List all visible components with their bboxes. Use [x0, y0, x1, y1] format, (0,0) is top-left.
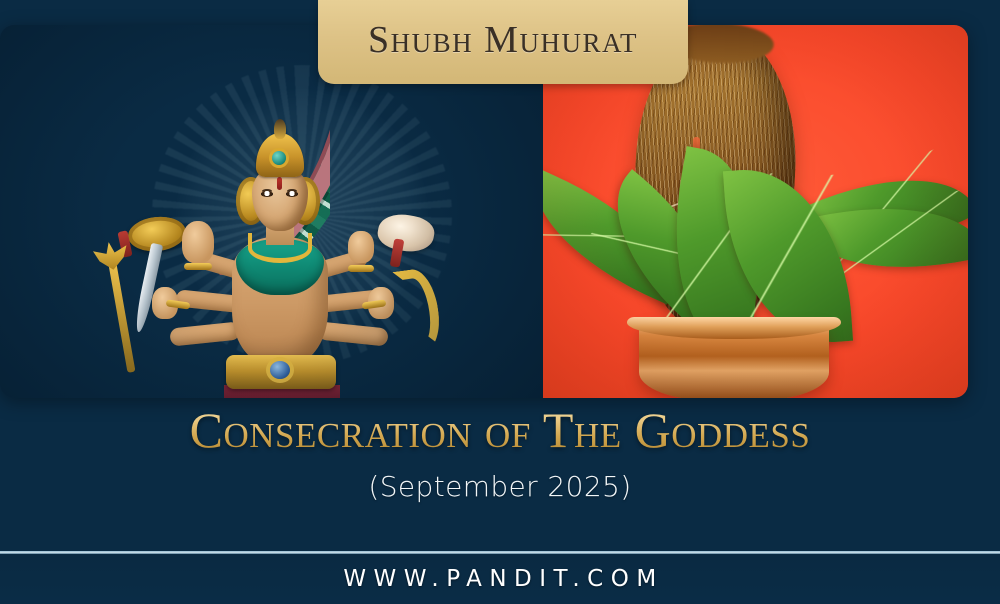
coconut-kumkum-mark	[693, 137, 700, 167]
deity-bangle	[348, 265, 374, 272]
deity-waist-belt	[226, 355, 336, 389]
deity-right-hand	[368, 287, 394, 319]
deity-blouse	[236, 239, 324, 295]
deity-lower-left-arm	[169, 321, 240, 346]
headline-block: Consecration of The Goddess (September 2…	[0, 404, 1000, 503]
deity-upper-left-arm	[189, 249, 253, 282]
conch-tassel-icon	[390, 238, 405, 267]
mango-leaf-icon	[543, 170, 696, 305]
deity-left-earring	[236, 177, 266, 225]
banner-label: Shubh Muhurat	[368, 18, 638, 66]
deity-upper-right-arm	[305, 249, 369, 282]
copper-kalash-rim	[627, 317, 841, 339]
footer-bar: WWW.PANDIT.COM	[0, 554, 1000, 604]
deity-neck	[266, 223, 294, 245]
deity-crown-finial	[274, 119, 286, 139]
deity-middle-right-arm	[309, 289, 382, 313]
deity-right-eye	[286, 191, 298, 197]
deity-skirt	[224, 385, 340, 398]
coconut-sacred-thread	[648, 215, 784, 281]
shubh-muhurat-banner: Shubh Muhurat	[318, 0, 688, 84]
mango-leaf-icon	[723, 163, 853, 349]
sword-icon	[133, 243, 163, 334]
deity-bangle	[184, 263, 212, 270]
arch-rose-band	[0, 25, 330, 275]
deity-belt-gem	[270, 361, 290, 379]
deity-crown	[256, 133, 304, 177]
deity-middle-left-arm	[175, 289, 248, 313]
trident-icon	[109, 263, 136, 373]
deity-tilak-mark	[277, 177, 282, 190]
deity-raised-hand	[348, 231, 374, 263]
page-title: Consecration of The Goddess	[0, 404, 1000, 456]
deity-crown-gem	[272, 151, 286, 165]
deity-lower-right-arm	[317, 321, 388, 346]
conch-icon	[375, 210, 436, 255]
deity-right-earring	[290, 177, 320, 225]
arch-green-motif-band	[0, 25, 330, 275]
halo-glow-icon	[176, 89, 428, 341]
deity-bangle	[166, 299, 191, 309]
page-subtitle: (September 2025)	[0, 470, 1000, 503]
mango-leaf-icon	[653, 146, 782, 356]
deity-left-eye	[261, 191, 273, 197]
coconut-sacred-thread	[644, 207, 789, 272]
halo-rays-icon	[152, 65, 452, 365]
snake-icon	[392, 267, 443, 354]
mango-leaf-icon	[780, 140, 968, 293]
deity-torso	[232, 237, 328, 363]
mango-leaf-icon	[803, 184, 968, 292]
coconut-sacred-thread	[636, 187, 799, 275]
discus-icon	[126, 214, 187, 254]
website-url[interactable]: WWW.PANDIT.COM	[336, 566, 663, 592]
mango-leaf-icon	[579, 169, 754, 335]
deity-bangle	[362, 299, 387, 309]
temple-arch-decoration	[0, 25, 330, 275]
poster-canvas: Shubh Muhurat Consecration of The Goddes…	[0, 0, 1000, 604]
deity-face	[252, 165, 308, 231]
deity-necklace	[248, 233, 312, 263]
discus-tassel-icon	[117, 230, 132, 258]
copper-kalash-pot	[639, 321, 829, 398]
deity-left-hand	[152, 287, 178, 319]
deity-abhaya-hand	[182, 221, 214, 263]
